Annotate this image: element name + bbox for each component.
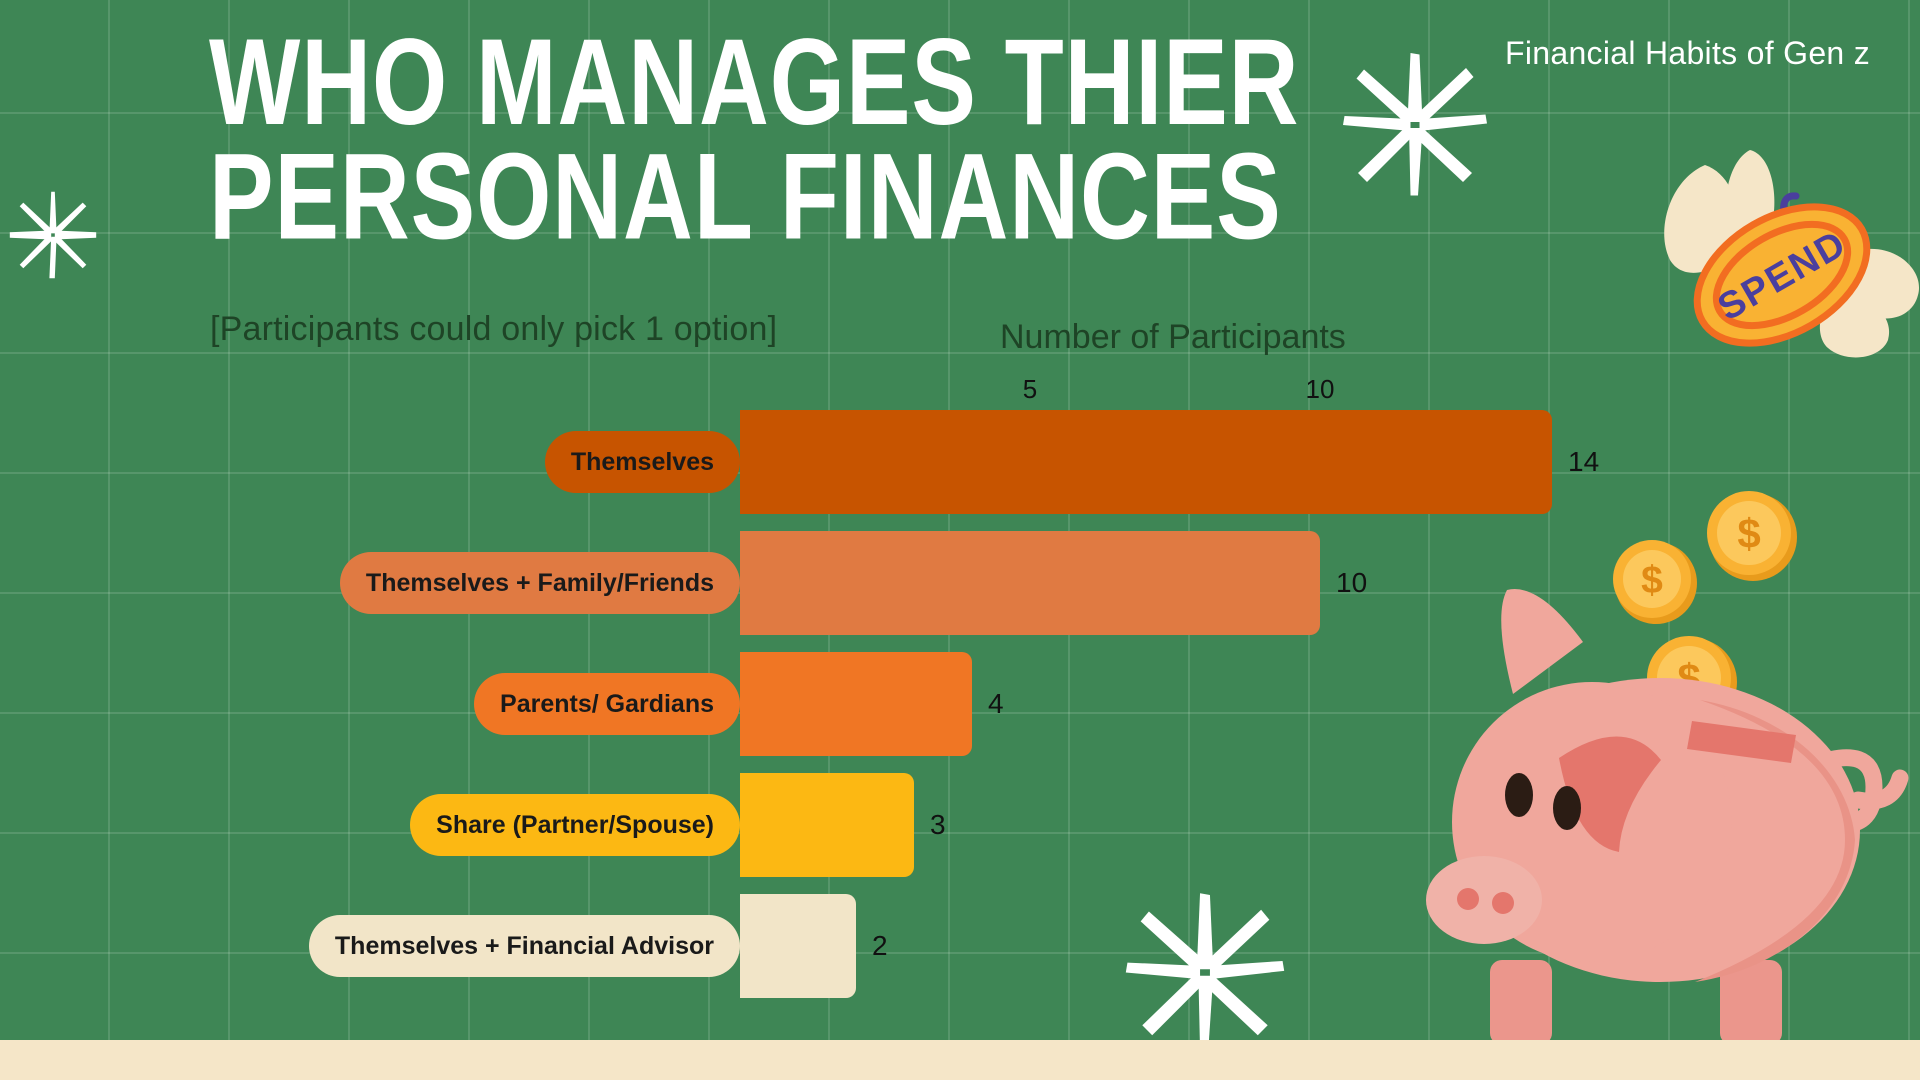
x-tick-10: 10: [1306, 374, 1335, 405]
starburst-icon-top-right: [1320, 50, 1510, 200]
bar-value-label: 2: [872, 930, 888, 962]
bar-chart: Number of Participants 510 Themselves14T…: [0, 318, 1920, 998]
chart-row: Themselves14: [0, 410, 1920, 514]
chart-row: Share (Partner/Spouse)3: [0, 773, 1920, 877]
category-label-pill: Parents/ Gardians: [474, 673, 740, 735]
category-label-pill: Share (Partner/Spouse): [410, 794, 740, 856]
bar: [740, 531, 1320, 635]
bar-value-label: 3: [930, 809, 946, 841]
title-line-1: Who Manages Thier: [209, 26, 1093, 140]
chart-row: Parents/ Gardians4: [0, 652, 1920, 756]
bar: [740, 773, 914, 877]
category-label-pill: Themselves + Family/Friends: [340, 552, 740, 614]
chart-row: Themselves + Family/Friends10: [0, 531, 1920, 635]
chart-row: Themselves + Financial Advisor2: [0, 894, 1920, 998]
bar-value-label: 10: [1336, 567, 1367, 599]
x-tick-5: 5: [1023, 374, 1037, 405]
x-axis-title: Number of Participants: [1000, 318, 1346, 357]
bar: [740, 652, 972, 756]
corner-tag: Financial Habits of Gen z: [1505, 35, 1870, 72]
bottom-bar: [0, 1040, 1920, 1080]
starburst-icon-left: [8, 190, 98, 280]
bar-value-label: 14: [1568, 446, 1599, 478]
page-title: Who Manages Thier Personal Finances: [209, 26, 1093, 254]
bar: [740, 410, 1552, 514]
bar-value-label: 4: [988, 688, 1004, 720]
title-line-2: Personal Finances: [209, 140, 1093, 254]
bar: [740, 894, 856, 998]
category-label-pill: Themselves + Financial Advisor: [309, 915, 740, 977]
category-label-pill: Themselves: [545, 431, 740, 493]
